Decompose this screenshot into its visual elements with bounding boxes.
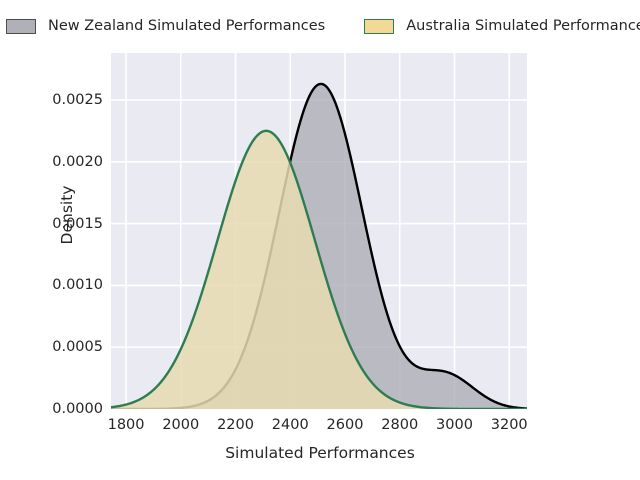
x-tick-label: 2400 <box>272 417 309 433</box>
x-tick-label: 3000 <box>436 417 473 433</box>
data-layer <box>111 53 527 409</box>
x-tick-label: 2000 <box>162 417 199 433</box>
x-tick-label: 1800 <box>108 417 145 433</box>
x-axis-label: Simulated Performances <box>0 444 640 462</box>
chart-legend: New Zealand Simulated Performances Austr… <box>0 14 640 38</box>
legend-entry-new-zealand[interactable]: New Zealand Simulated Performances <box>6 18 325 34</box>
legend-swatch-new-zealand <box>6 19 36 34</box>
x-tick-label: 2600 <box>327 417 364 433</box>
legend-label-australia: Australia Simulated Performances <box>406 18 640 34</box>
x-tick-label: 2800 <box>381 417 418 433</box>
plot-area <box>111 53 527 409</box>
x-tick-label: 2200 <box>217 417 254 433</box>
density-plot-figure: New Zealand Simulated Performances Austr… <box>0 0 640 480</box>
legend-label-new-zealand: New Zealand Simulated Performances <box>48 18 325 34</box>
y-tick-label: 0.0000 <box>45 401 103 417</box>
legend-swatch-australia <box>364 19 394 34</box>
y-axis-label: Density <box>58 37 76 393</box>
x-tick-label: 3200 <box>491 417 528 433</box>
legend-entry-australia[interactable]: Australia Simulated Performances <box>364 18 640 34</box>
